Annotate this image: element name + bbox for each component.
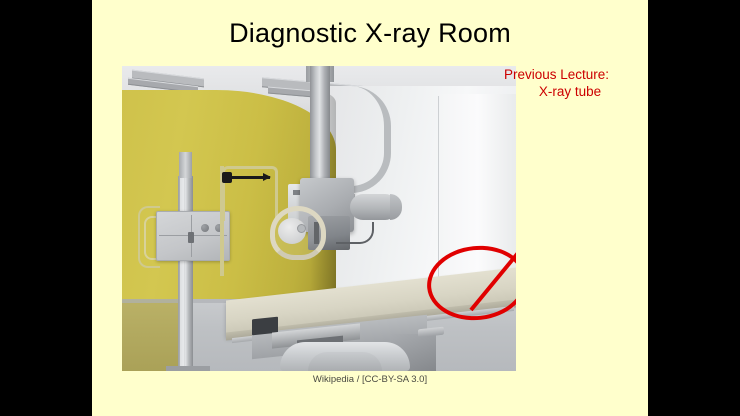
wall-stand-column-top bbox=[179, 152, 192, 178]
annotation-callout: Previous Lecture: X-ray tube bbox=[504, 66, 648, 100]
annotation-line-2: X-ray tube bbox=[504, 83, 648, 100]
annotation-line-1: Previous Lecture: bbox=[504, 66, 648, 83]
xray-room-photo bbox=[122, 66, 516, 371]
tube-window-dot-icon bbox=[297, 224, 306, 233]
floor-yellow-reflection bbox=[122, 299, 182, 371]
high-voltage-cable bbox=[336, 222, 374, 244]
black-arrow-icon bbox=[226, 176, 270, 179]
page-title: Diagnostic X-ray Room bbox=[92, 18, 648, 49]
wall-stand-base bbox=[166, 366, 210, 371]
image-credit-caption: Wikipedia / [CC-BY-SA 3.0] bbox=[92, 374, 648, 385]
slide-viewer: Diagnostic X-ray Room bbox=[0, 0, 740, 416]
slide-canvas: Diagnostic X-ray Room bbox=[92, 0, 648, 416]
bucky-cassette-slot bbox=[188, 232, 194, 243]
wall-stand-column-highlight bbox=[180, 176, 184, 371]
table-pedestal-base bbox=[308, 352, 382, 371]
cable-loop bbox=[322, 86, 391, 193]
bucky-knob-icon bbox=[201, 224, 209, 232]
letterbox-right bbox=[648, 0, 740, 416]
wall-stand-bucky-detector bbox=[156, 211, 230, 261]
letterbox-left bbox=[0, 0, 92, 416]
